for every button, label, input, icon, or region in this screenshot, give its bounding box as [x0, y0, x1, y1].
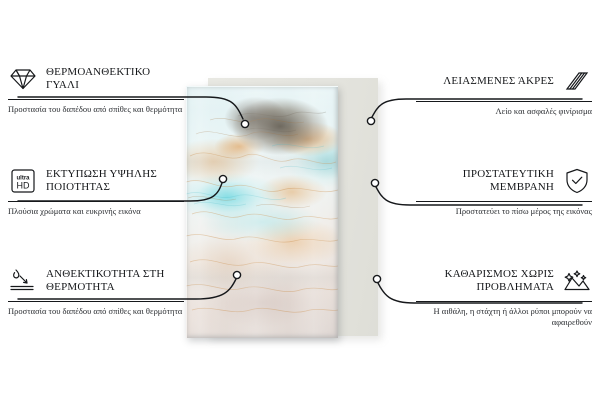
- feature-description: Πλούσια χρώματα και ευκρινής εικόνα: [8, 206, 184, 217]
- feature-title: ΚΑΘΑΡΙΣΜΟΣ ΧΩΡΙΣ ΠΡΟΒΛΗΜΑΤΑ: [416, 268, 554, 294]
- feature-divider: [8, 301, 184, 302]
- sparkle-clean-icon: [562, 266, 592, 296]
- feature-heat-resistant-glass: ΘΕΡΜΟΑΝΘΕΚΤΙΚΟ ΓΥΑΛΙ Προστασία του δαπέδ…: [8, 64, 184, 115]
- glass-panel-artwork: [186, 86, 338, 338]
- feature-title: ΑΝΘΕΚΤΙΚΟΤΗΤΑ ΣΤΗ ΘΕΡΜΟΤΗΤΑ: [46, 268, 184, 294]
- glass-edge-highlight: [186, 86, 338, 338]
- diamond-icon: [8, 64, 38, 94]
- feature-header: ΛΕΙΑΣΜΕΝΕΣ ΆΚΡΕΣ: [416, 66, 592, 96]
- feature-description: Προστατεύει το πίσω μέρος της εικόνας: [416, 206, 592, 217]
- feature-divider: [8, 201, 184, 202]
- feature-description: Προστασία του δαπέδου από σπίθες και θερ…: [8, 104, 184, 115]
- feature-title: ΠΡΟΣΤΑΤΕΥΤΙΚΗ ΜΕΜΒΡΑΝΗ: [416, 168, 554, 194]
- heat-resistance-icon: [8, 266, 38, 296]
- feature-divider: [416, 201, 592, 202]
- feature-easy-cleaning: ΚΑΘΑΡΙΣΜΟΣ ΧΩΡΙΣ ΠΡΟΒΛΗΜΑΤΑ Η αιθάλη, η …: [416, 266, 592, 328]
- feature-high-quality-print: ultra HD ΕΚΤΥΠΩΣΗ ΥΨΗΛΗΣ ΠΟΙΟΤΗΤΑΣ Πλούσ…: [8, 166, 184, 217]
- feature-heat-durability: ΑΝΘΕΚΤΙΚΟΤΗΤΑ ΣΤΗ ΘΕΡΜΟΤΗΤΑ Προστασία το…: [8, 266, 184, 317]
- feature-description: Η αιθάλη, η στάχτη ή άλλοι ρύποι μπορούν…: [416, 306, 592, 328]
- feature-title: ΕΚΤΥΠΩΣΗ ΥΨΗΛΗΣ ΠΟΙΟΤΗΤΑΣ: [46, 168, 184, 194]
- feature-header: ΠΡΟΣΤΑΤΕΥΤΙΚΗ ΜΕΜΒΡΑΝΗ: [416, 166, 592, 196]
- infographic-canvas: ΘΕΡΜΟΑΝΘΕΚΤΙΚΟ ΓΥΑΛΙ Προστασία του δαπέδ…: [0, 0, 600, 400]
- feature-description: Προστασία του δαπέδου από σπίθες και θερ…: [8, 306, 184, 317]
- feature-protective-film: ΠΡΟΣΤΑΤΕΥΤΙΚΗ ΜΕΜΒΡΑΝΗ Προστατεύει το πί…: [416, 166, 592, 217]
- feature-title: ΛΕΙΑΣΜΕΝΕΣ ΆΚΡΕΣ: [443, 75, 554, 88]
- feature-header: ΚΑΘΑΡΙΣΜΟΣ ΧΩΡΙΣ ΠΡΟΒΛΗΜΑΤΑ: [416, 266, 592, 296]
- feature-divider: [8, 99, 184, 100]
- feature-divider: [416, 101, 592, 102]
- feature-divider: [416, 301, 592, 302]
- shield-check-icon: [562, 166, 592, 196]
- feature-header: ΑΝΘΕΚΤΙΚΟΤΗΤΑ ΣΤΗ ΘΕΡΜΟΤΗΤΑ: [8, 266, 184, 296]
- product-image-stage: [186, 78, 378, 340]
- feature-header: ultra HD ΕΚΤΥΠΩΣΗ ΥΨΗΛΗΣ ΠΟΙΟΤΗΤΑΣ: [8, 166, 184, 196]
- feature-description: Λείο και ασφαλές φινίρισμα: [416, 106, 592, 117]
- ultra-hd-icon: ultra HD: [8, 166, 38, 196]
- feature-title: ΘΕΡΜΟΑΝΘΕΚΤΙΚΟ ΓΥΑΛΙ: [46, 66, 184, 92]
- polished-edges-icon: [562, 66, 592, 96]
- feature-header: ΘΕΡΜΟΑΝΘΕΚΤΙΚΟ ΓΥΑΛΙ: [8, 64, 184, 94]
- svg-text:HD: HD: [17, 181, 30, 191]
- feature-polished-edges: ΛΕΙΑΣΜΕΝΕΣ ΆΚΡΕΣ Λείο και ασφαλές φινίρι…: [416, 66, 592, 117]
